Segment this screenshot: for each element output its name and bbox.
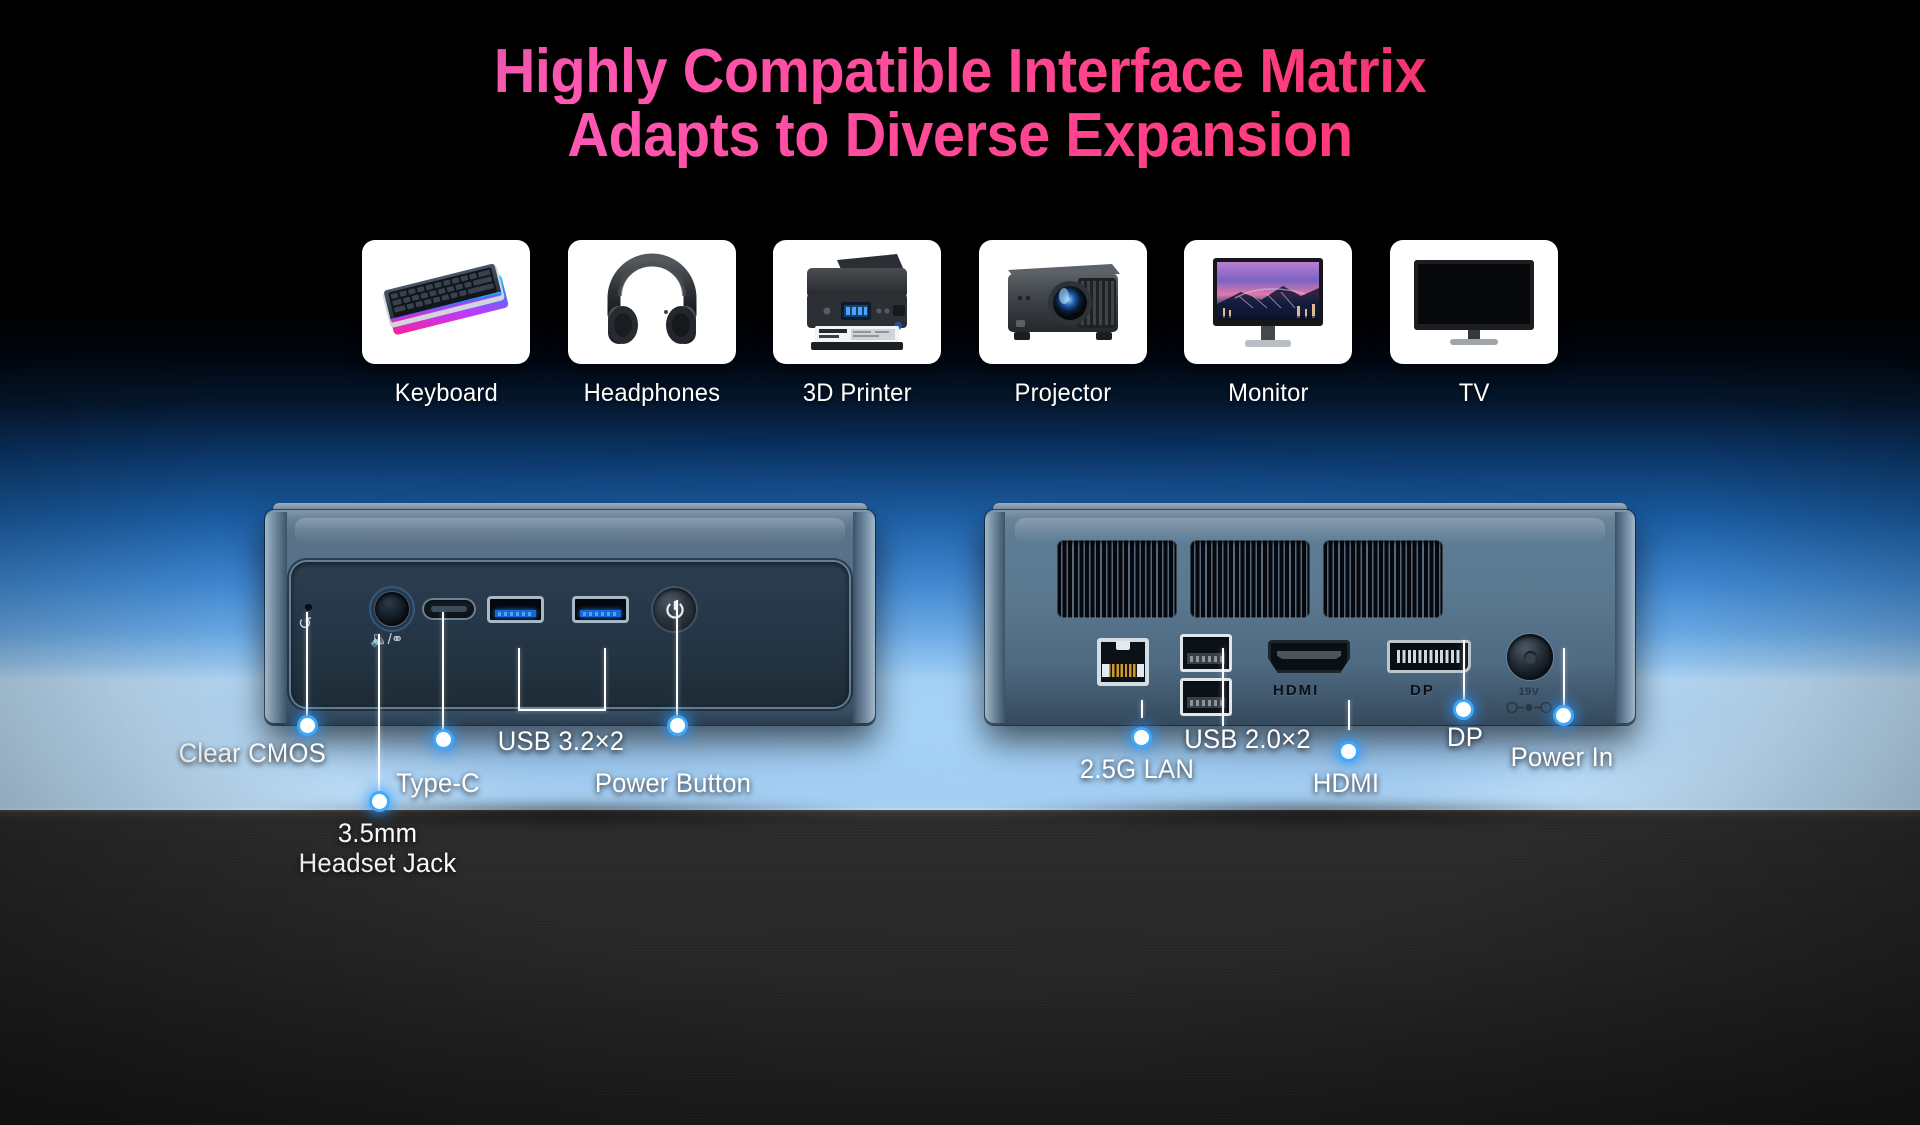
tv-icon xyxy=(1410,256,1538,348)
dc-power-in-port[interactable] xyxy=(1507,634,1553,680)
leader-line-headset-jack xyxy=(378,634,380,798)
page-title-line-1: Highly Compatible Interface Matrix xyxy=(67,40,1853,104)
callout-label-hdmi: HDMI xyxy=(1291,768,1401,798)
leader-line-usb32-right xyxy=(604,648,606,711)
callout-label-lan: 2.5G LAN xyxy=(1052,754,1223,784)
clear-cmos-pinhole[interactable] xyxy=(305,604,312,611)
rj45-pins xyxy=(1108,664,1138,677)
usb-3-2-port-1[interactable] xyxy=(487,596,544,623)
device-card-monitor[interactable]: Monitor xyxy=(1182,240,1354,408)
usb-2-0-port-1[interactable] xyxy=(1180,634,1232,672)
monitor-card-image xyxy=(1184,240,1352,364)
page-title: Highly Compatible Interface Matrix Adapt… xyxy=(67,40,1853,168)
hdmi-silkscreen-label: HDMI xyxy=(1273,682,1319,699)
device-label: Projector xyxy=(1014,379,1111,408)
mini-pc-front-view: ↺ 🔈/⚭ xyxy=(265,510,875,725)
device-card-tv[interactable]: TV xyxy=(1388,240,1560,408)
callout-dot-lan xyxy=(1134,730,1149,745)
keyboard-icon xyxy=(376,260,516,344)
callout-label-power-in: Power In xyxy=(1477,742,1648,772)
rj45-side-left xyxy=(1102,664,1109,677)
printer-icon xyxy=(793,250,921,354)
rear-unit-shadow xyxy=(970,800,1650,826)
vent-block xyxy=(1323,540,1443,618)
callout-dot-dp xyxy=(1456,702,1471,717)
projector-card-image xyxy=(979,240,1147,364)
voltage-value: 19V xyxy=(1519,686,1540,698)
dc-polarity-icon xyxy=(1505,701,1553,714)
callout-dot-power-in xyxy=(1556,708,1571,723)
device-card-3d-printer[interactable]: 3D Printer xyxy=(771,240,943,408)
mini-pc-rear-view: HDMI DP 19V xyxy=(985,510,1635,725)
usb-2-0-stack[interactable] xyxy=(1180,634,1232,720)
rj45-latch xyxy=(1116,641,1130,650)
callout-dot-clear-cmos xyxy=(300,718,315,733)
marketing-image: Highly Compatible Interface Matrix Adapt… xyxy=(0,0,1920,1125)
compatible-devices-row: Keyboard xyxy=(360,240,1560,420)
tv-card-image xyxy=(1390,240,1558,364)
callout-dot-hdmi xyxy=(1341,744,1356,759)
leader-line-power-button xyxy=(676,600,678,722)
dc-center-pin xyxy=(1524,651,1537,664)
usb-2-0-port-2[interactable] xyxy=(1180,678,1232,716)
callout-dot-type-c xyxy=(436,732,451,747)
rear-left-rail xyxy=(985,512,1005,723)
page-title-line-2: Adapts to Diverse Expansion xyxy=(67,104,1853,168)
dp-silkscreen-label: DP xyxy=(1410,682,1435,699)
keyboard-card-image xyxy=(362,240,530,364)
device-label: TV xyxy=(1459,379,1490,408)
device-label: Keyboard xyxy=(394,379,497,408)
leader-line-power-in xyxy=(1563,648,1565,714)
callout-label-power-button: Power Button xyxy=(583,768,764,798)
printer-card-image xyxy=(773,240,941,364)
headset-jack-label-line-2: Headset Jack xyxy=(299,848,457,878)
headset-jack-ring xyxy=(371,588,413,630)
device-card-keyboard[interactable]: Keyboard xyxy=(360,240,532,408)
front-left-rail xyxy=(265,512,287,723)
device-card-projector[interactable]: Projector xyxy=(977,240,1149,408)
leader-bracket-usb32 xyxy=(518,709,606,711)
power-in-voltage-marking: 19V xyxy=(1497,686,1561,714)
headset-jack-port[interactable] xyxy=(375,592,409,626)
device-label: 3D Printer xyxy=(803,379,912,408)
usb-3-2-port-2[interactable] xyxy=(572,596,629,623)
monitor-icon xyxy=(1209,252,1327,352)
leader-line-type-c xyxy=(442,612,444,736)
projector-icon xyxy=(1000,256,1126,348)
device-card-headphones[interactable]: Headphones xyxy=(566,240,738,408)
rj45-side-right xyxy=(1137,664,1144,677)
callout-label-type-c: Type-C xyxy=(381,768,495,798)
device-label: Headphones xyxy=(583,379,720,408)
rear-vent-group xyxy=(1057,540,1443,618)
dp-port[interactable] xyxy=(1387,640,1471,673)
leader-line-clear-cmos xyxy=(306,612,308,722)
leader-line-lan-main xyxy=(1141,700,1143,718)
background-desk-surface xyxy=(0,810,1920,1125)
vent-block xyxy=(1057,540,1177,618)
callout-label-usb32: USB 3.2×2 xyxy=(491,726,632,756)
callout-label-headset-jack: 3.5mm Headset Jack xyxy=(294,818,460,878)
leader-line-dp xyxy=(1463,640,1465,708)
headphones-icon xyxy=(600,252,704,352)
headphones-card-image xyxy=(568,240,736,364)
headset-jack-label-line-1: 3.5mm xyxy=(338,818,417,848)
front-chassis xyxy=(265,510,875,725)
power-button[interactable] xyxy=(653,588,696,631)
callout-label-clear-cmos: Clear CMOS xyxy=(179,738,317,768)
front-right-rail xyxy=(853,512,875,723)
power-icon xyxy=(664,599,686,621)
headset-jack-icon: 🔈/⚭ xyxy=(370,632,402,647)
vent-block xyxy=(1190,540,1310,618)
leader-line-usb32-left xyxy=(518,648,520,711)
hdmi-port[interactable] xyxy=(1268,640,1350,673)
leader-line-usb20 xyxy=(1222,648,1224,726)
callout-dot-power-button xyxy=(670,718,685,733)
device-label: Monitor xyxy=(1228,379,1309,408)
leader-line-hdmi xyxy=(1348,700,1350,730)
lan-port[interactable] xyxy=(1097,638,1149,686)
front-top-glare xyxy=(295,518,845,544)
callout-label-usb20: USB 2.0×2 xyxy=(1160,724,1336,754)
type-c-port[interactable] xyxy=(422,598,476,620)
rear-right-rail xyxy=(1615,512,1635,723)
